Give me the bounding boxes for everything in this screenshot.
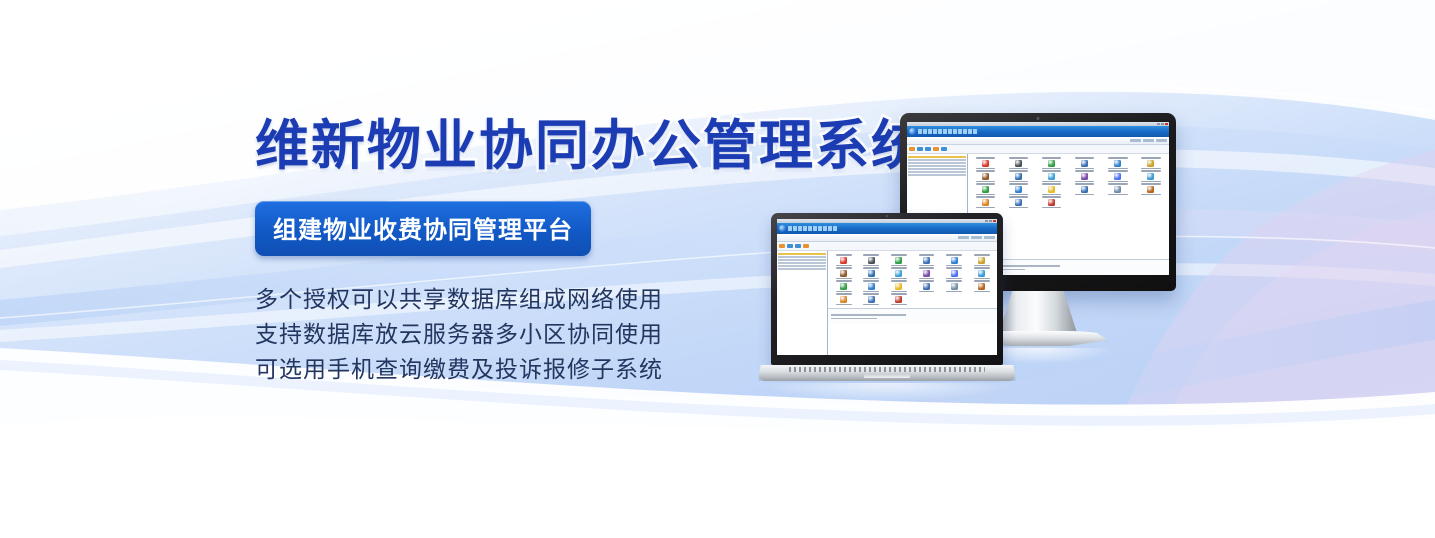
module-icon-cell[interactable]	[1003, 170, 1035, 182]
module-icon	[1015, 186, 1022, 193]
menu-item[interactable]	[823, 226, 827, 231]
module-icon-label	[1009, 183, 1028, 185]
minimize-icon[interactable]	[1157, 123, 1160, 125]
toolbar-button[interactable]	[917, 147, 923, 151]
module-icon-label	[863, 280, 879, 282]
subbar-link[interactable]	[984, 236, 995, 239]
module-icon-label	[1141, 168, 1160, 170]
module-icon-label	[946, 291, 962, 293]
module-icon-label	[919, 280, 935, 282]
module-icon-label	[836, 280, 852, 282]
module-icon-label	[891, 304, 907, 306]
module-icon	[868, 257, 875, 264]
app-menu-bar[interactable]	[788, 226, 837, 231]
module-icon-label	[1075, 157, 1094, 159]
module-icon-label	[1108, 183, 1127, 185]
tree-node[interactable]	[778, 256, 826, 258]
menu-item[interactable]	[943, 129, 947, 134]
app-subbar	[907, 137, 1169, 145]
subbar-link[interactable]	[958, 236, 969, 239]
app-body	[777, 251, 997, 355]
module-icon	[1015, 199, 1022, 206]
module-icon-label	[919, 278, 935, 280]
module-icon-cell[interactable]	[830, 254, 857, 266]
maximize-icon[interactable]	[1161, 123, 1164, 125]
module-icon	[840, 257, 847, 264]
module-icon	[1114, 160, 1121, 167]
module-icon-cell[interactable]	[1003, 196, 1035, 208]
webcam-icon	[886, 215, 888, 217]
tree-node[interactable]	[908, 156, 966, 158]
app-logo-icon	[909, 128, 916, 135]
module-icon-cell[interactable]	[913, 254, 940, 266]
module-icon	[1048, 173, 1055, 180]
module-icon-cell[interactable]	[913, 267, 940, 279]
module-icon-label	[863, 265, 879, 267]
module-icon-label	[836, 254, 852, 256]
module-icon-label	[1141, 183, 1160, 185]
module-icon-label	[946, 265, 962, 267]
laptop-reflection	[762, 383, 1012, 401]
module-icon	[923, 257, 930, 264]
module-icon-label	[1009, 168, 1028, 170]
tree-node[interactable]	[908, 168, 966, 170]
toolbar-button[interactable]	[803, 244, 809, 248]
module-icon	[978, 283, 985, 290]
module-icon	[868, 283, 875, 290]
module-icon-label	[1042, 183, 1061, 185]
tree-node[interactable]	[778, 253, 826, 255]
module-icon-label	[836, 267, 852, 269]
module-icon-cell[interactable]	[1036, 170, 1068, 182]
module-icon-label	[1075, 183, 1094, 185]
module-icon-cell[interactable]	[1069, 157, 1101, 169]
module-icon-cell[interactable]	[858, 280, 885, 292]
module-icon-label	[946, 254, 962, 256]
module-icon-label	[976, 183, 995, 185]
module-icon-label	[1075, 181, 1094, 183]
module-icon-cell[interactable]	[1036, 183, 1068, 195]
app-toolbar	[777, 242, 997, 251]
app-preview-laptop	[777, 219, 997, 355]
module-icon-label	[836, 304, 852, 306]
laptop-lid	[771, 213, 1003, 365]
app-main-area	[828, 251, 997, 355]
module-icon	[982, 160, 989, 167]
tree-node[interactable]	[908, 162, 966, 164]
module-icon-label	[919, 291, 935, 293]
module-icon-label	[1042, 207, 1061, 209]
tree-node[interactable]	[908, 171, 966, 173]
module-icon-label	[1009, 157, 1028, 159]
tree-node[interactable]	[908, 159, 966, 161]
toolbar-button[interactable]	[909, 147, 915, 151]
module-icon-cell[interactable]	[886, 293, 913, 305]
module-icon-cell[interactable]	[1003, 157, 1035, 169]
module-icon-label	[1075, 170, 1094, 172]
module-icon-label	[891, 267, 907, 269]
module-icon-label	[1141, 157, 1160, 159]
module-icon-cell[interactable]	[830, 293, 857, 305]
module-icon	[895, 296, 902, 303]
module-icon	[978, 257, 985, 264]
maximize-icon[interactable]	[989, 220, 992, 222]
module-icon-cell[interactable]	[1135, 157, 1167, 169]
module-icon-cell[interactable]	[858, 293, 885, 305]
menu-item[interactable]	[968, 129, 972, 134]
module-icon-label	[1042, 168, 1061, 170]
module-icon-label	[891, 291, 907, 293]
module-icon-cell[interactable]	[1102, 157, 1134, 169]
module-icon	[1015, 160, 1022, 167]
module-icon-label	[863, 291, 879, 293]
module-icon-label	[891, 280, 907, 282]
module-icon	[923, 270, 930, 277]
module-icon-label	[919, 254, 935, 256]
detail-pane	[828, 324, 997, 355]
module-icon-label	[1141, 181, 1160, 183]
module-icon	[1015, 173, 1022, 180]
module-icon	[978, 270, 985, 277]
module-icon-cell[interactable]	[1036, 157, 1068, 169]
module-icon-label	[836, 265, 852, 267]
module-icon-cell[interactable]	[1036, 196, 1068, 208]
module-icon-cell[interactable]	[830, 267, 857, 279]
module-icon-label	[976, 168, 995, 170]
module-icon	[982, 173, 989, 180]
module-icon	[951, 257, 958, 264]
module-icon-label	[1108, 157, 1127, 159]
module-icon	[1147, 186, 1154, 193]
trackpad-icon	[864, 374, 910, 378]
status-line	[831, 314, 906, 316]
menu-item[interactable]	[818, 226, 822, 231]
module-icon	[840, 283, 847, 290]
module-icon-label	[863, 278, 879, 280]
subbar-link[interactable]	[971, 236, 982, 239]
module-icon	[895, 257, 902, 264]
app-logo-icon	[779, 225, 786, 232]
module-icon	[840, 296, 847, 303]
module-icon-label	[891, 293, 907, 295]
module-icon-cell[interactable]	[970, 196, 1002, 208]
module-icon-cell[interactable]	[1135, 170, 1167, 182]
tree-node[interactable]	[778, 265, 826, 267]
module-icon-label	[1009, 196, 1028, 198]
module-icon-cell[interactable]	[968, 254, 995, 266]
module-icon-label	[974, 280, 990, 282]
menu-item[interactable]	[788, 226, 792, 231]
module-icon-label	[1141, 194, 1160, 196]
module-icon-label	[976, 181, 995, 183]
module-icon-label	[891, 278, 907, 280]
module-icon-cell[interactable]	[830, 280, 857, 292]
module-icon-cell[interactable]	[1102, 183, 1134, 195]
module-icon-cell[interactable]	[970, 170, 1002, 182]
menu-item[interactable]	[833, 226, 837, 231]
laptop-screen	[777, 219, 997, 355]
app-toolbar	[907, 145, 1169, 154]
module-icon-label	[836, 291, 852, 293]
module-icon	[1114, 173, 1121, 180]
module-icon-cell[interactable]	[1003, 183, 1035, 195]
module-icon-label	[1009, 181, 1028, 183]
module-icon-label	[1042, 194, 1061, 196]
menu-item[interactable]	[803, 226, 807, 231]
webcam-icon	[1037, 117, 1040, 120]
status-panel	[828, 308, 997, 324]
module-icon-cell[interactable]	[1069, 183, 1101, 195]
module-icon-cell[interactable]	[858, 267, 885, 279]
module-icon-label	[919, 267, 935, 269]
module-icon-label	[836, 293, 852, 295]
module-icon	[1081, 186, 1088, 193]
toolbar-button[interactable]	[795, 244, 801, 248]
menu-item[interactable]	[958, 129, 962, 134]
menu-item[interactable]	[793, 226, 797, 231]
module-icon-cell[interactable]	[941, 280, 968, 292]
menu-item[interactable]	[918, 129, 922, 134]
module-icon	[1147, 173, 1154, 180]
module-icon-label	[1009, 207, 1028, 209]
page-title: 维新物业协同办公管理系统	[255, 118, 895, 175]
module-icon-cell[interactable]	[858, 254, 885, 266]
menu-item[interactable]	[953, 129, 957, 134]
module-icon-label	[891, 265, 907, 267]
promo-banner: 维新物业协同办公管理系统 组建物业收费协同管理平台 多个授权可以共享数据库组成网…	[0, 0, 1435, 538]
module-icon-label	[1075, 194, 1094, 196]
menu-item[interactable]	[923, 129, 927, 134]
menu-item[interactable]	[808, 226, 812, 231]
module-icon	[1081, 173, 1088, 180]
module-icon-label	[1009, 194, 1028, 196]
module-icon-label	[863, 254, 879, 256]
subbar-link[interactable]	[1156, 139, 1167, 142]
module-icon-label	[1042, 157, 1061, 159]
menu-item[interactable]	[973, 129, 977, 134]
module-icon-grid	[828, 251, 997, 308]
module-icon-label	[946, 280, 962, 282]
subbar-link[interactable]	[1130, 139, 1141, 142]
module-icon-cell[interactable]	[1135, 183, 1167, 195]
module-icon-label	[863, 267, 879, 269]
module-icon-label	[974, 267, 990, 269]
app-subbar	[777, 234, 997, 242]
module-icon-label	[1075, 168, 1094, 170]
module-icon	[1048, 186, 1055, 193]
menu-item[interactable]	[948, 129, 952, 134]
module-icon	[982, 186, 989, 193]
app-header	[907, 126, 1169, 137]
status-line	[831, 318, 877, 320]
module-icon-label	[976, 196, 995, 198]
app-header	[777, 223, 997, 234]
toolbar-button[interactable]	[941, 147, 947, 151]
minimize-icon[interactable]	[985, 220, 988, 222]
app-menu-bar[interactable]	[918, 129, 977, 134]
module-icon-cell[interactable]	[913, 280, 940, 292]
module-icon-label	[1141, 170, 1160, 172]
module-icon-label	[974, 278, 990, 280]
module-icon-label	[863, 293, 879, 295]
module-icon-label	[1042, 196, 1061, 198]
module-icon-cell[interactable]	[886, 267, 913, 279]
keyboard-icon	[789, 367, 985, 372]
module-icon-label	[976, 194, 995, 196]
module-icon-label	[976, 170, 995, 172]
menu-item[interactable]	[938, 129, 942, 134]
module-icon-cell[interactable]	[968, 267, 995, 279]
sub-title-badge: 组建物业收费协同管理平台	[255, 201, 591, 256]
menu-item[interactable]	[798, 226, 802, 231]
tree-node[interactable]	[908, 165, 966, 167]
laptop-computer	[758, 213, 1016, 401]
module-icon	[951, 283, 958, 290]
module-icon-label	[974, 291, 990, 293]
close-icon[interactable]	[993, 220, 996, 222]
tree-node[interactable]	[778, 259, 826, 261]
module-icon	[895, 270, 902, 277]
module-icon-label	[1009, 170, 1028, 172]
module-icon-label	[1108, 194, 1127, 196]
module-icon-label	[976, 157, 995, 159]
module-icon-label	[891, 254, 907, 256]
module-icon	[982, 199, 989, 206]
module-icon-cell[interactable]	[1102, 170, 1134, 182]
module-icon	[840, 270, 847, 277]
navigation-tree[interactable]	[777, 251, 828, 355]
menu-item[interactable]	[928, 129, 932, 134]
module-icon-label	[1042, 181, 1061, 183]
module-icon-label	[946, 278, 962, 280]
module-icon-label	[836, 278, 852, 280]
module-icon	[895, 283, 902, 290]
menu-item[interactable]	[813, 226, 817, 231]
module-icon-label	[919, 265, 935, 267]
module-icon-label	[974, 265, 990, 267]
module-icon-label	[1108, 170, 1127, 172]
module-icon-label	[974, 254, 990, 256]
module-icon-cell[interactable]	[970, 157, 1002, 169]
module-icon	[951, 270, 958, 277]
module-icon-cell[interactable]	[886, 280, 913, 292]
module-icon-label	[1108, 168, 1127, 170]
module-icon	[868, 270, 875, 277]
module-icon-cell[interactable]	[886, 254, 913, 266]
module-icon-label	[1108, 181, 1127, 183]
module-icon-cell[interactable]	[968, 280, 995, 292]
module-icon-cell[interactable]	[941, 254, 968, 266]
toolbar-button[interactable]	[787, 244, 793, 248]
module-icon-label	[946, 267, 962, 269]
menu-item[interactable]	[963, 129, 967, 134]
module-icon	[868, 296, 875, 303]
module-icon	[1048, 199, 1055, 206]
module-icon	[923, 283, 930, 290]
module-icon-cell[interactable]	[970, 183, 1002, 195]
toolbar-button[interactable]	[933, 147, 939, 151]
tree-node[interactable]	[908, 174, 966, 176]
module-icon-cell[interactable]	[1069, 170, 1101, 182]
module-icon	[1048, 160, 1055, 167]
module-icon-label	[863, 304, 879, 306]
laptop-base	[758, 365, 1016, 381]
module-icon-cell[interactable]	[941, 267, 968, 279]
tree-node[interactable]	[778, 268, 826, 270]
menu-item[interactable]	[828, 226, 832, 231]
tree-node[interactable]	[778, 262, 826, 264]
module-icon	[1147, 160, 1154, 167]
module-icon	[1114, 186, 1121, 193]
close-icon[interactable]	[1165, 123, 1168, 125]
module-icon	[1081, 160, 1088, 167]
module-icon-label	[976, 207, 995, 209]
toolbar-button[interactable]	[925, 147, 931, 151]
menu-item[interactable]	[933, 129, 937, 134]
subbar-link[interactable]	[1143, 139, 1154, 142]
module-icon-label	[1042, 170, 1061, 172]
toolbar-button[interactable]	[779, 244, 785, 248]
